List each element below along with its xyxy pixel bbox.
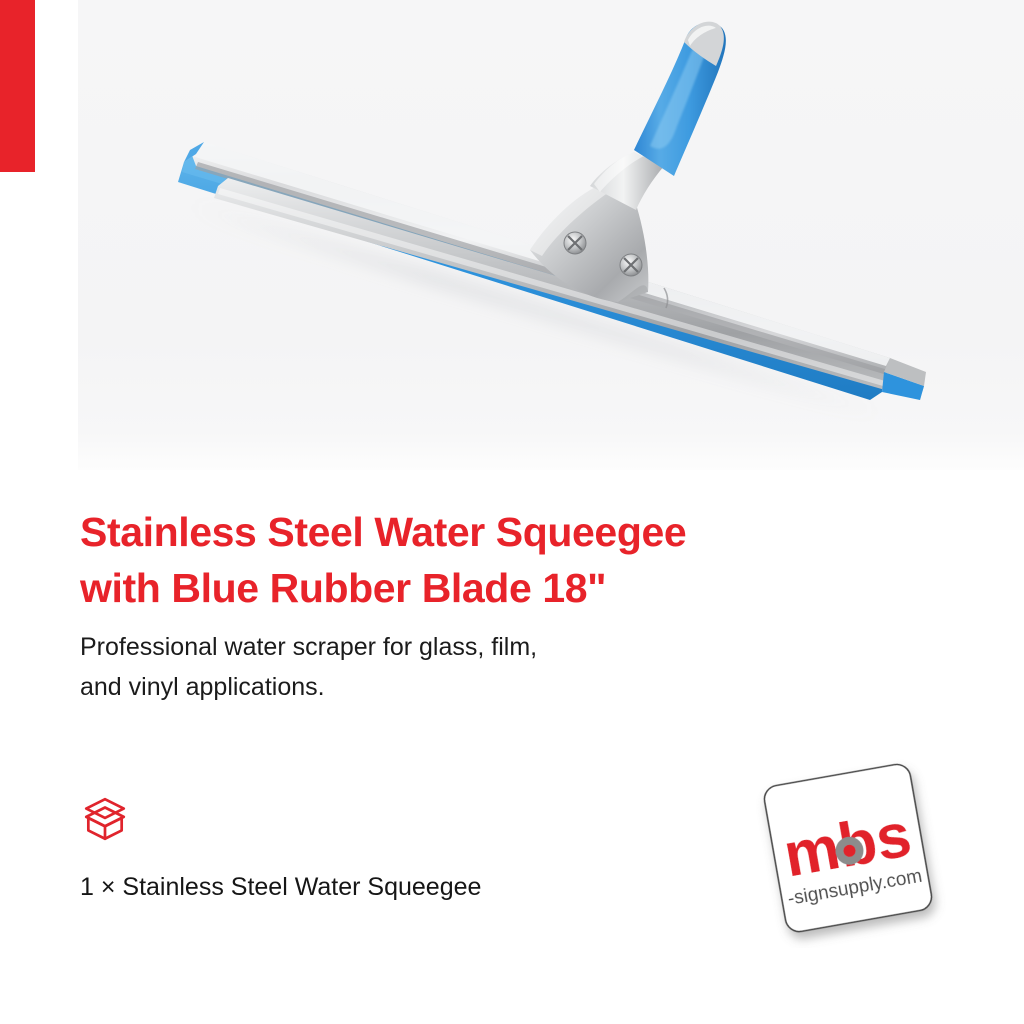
bracket-screw-upper: [564, 232, 586, 254]
product-subtitle: Professional water scraper for glass, fi…: [80, 627, 960, 708]
box-contents-line: 1 × Stainless Steel Water Squeegee: [80, 871, 700, 904]
product-title: Stainless Steel Water Squeegee with Blue…: [80, 505, 960, 617]
brand-logo: mbs -signsupply.com: [748, 748, 948, 948]
product-photo-squeegee: [78, 0, 1024, 470]
product-text-block: Stainless Steel Water Squeegee with Blue…: [80, 505, 960, 708]
product-image-panel: [78, 0, 1024, 470]
open-box-icon: [80, 795, 130, 845]
red-accent-bar: [0, 0, 35, 172]
box-contents-block: 1 × Stainless Steel Water Squeegee: [80, 795, 700, 904]
brand-logo-card: mbs -signsupply.com: [748, 748, 948, 948]
bracket-screw-lower: [620, 254, 642, 276]
